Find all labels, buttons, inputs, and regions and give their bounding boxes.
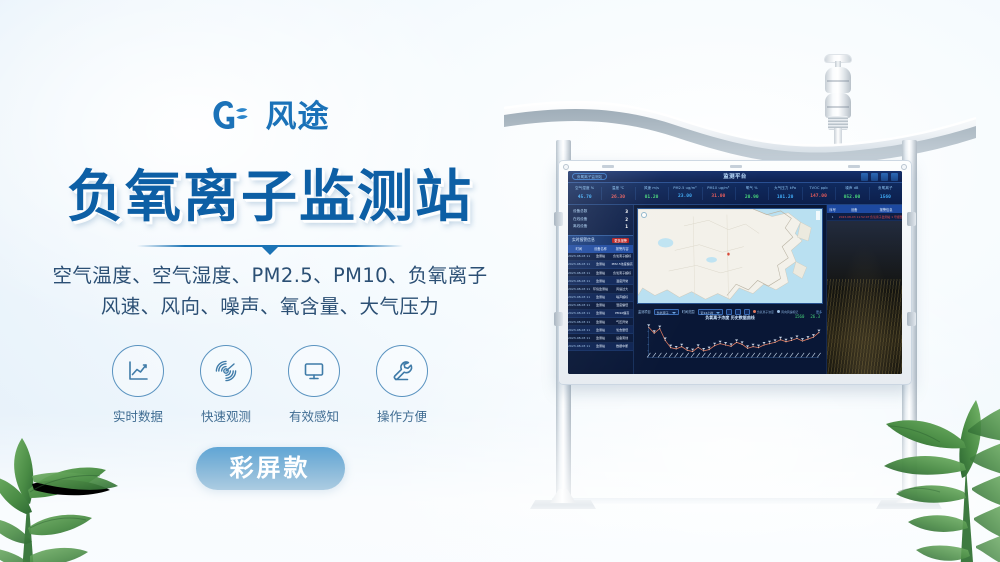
metric-name: 空气湿度 % [568,186,601,191]
metric-card[interactable]: 负氧离子1560 [869,183,902,204]
legend-label: 风向风速标记 [781,310,798,314]
column-header: 报警内容 [611,246,633,251]
dashboard-header: 负氧离子监测站 监测平台 [568,171,902,183]
chart-filter-label-2: 时间范围 [682,309,695,314]
chart-more-link[interactable]: 更多 [816,310,822,314]
table-cell: 气压异常 [611,320,633,324]
china-map[interactable] [637,208,823,304]
table-cell: 2023-08-03 11:44:55 [568,320,590,324]
dashboard-center-column: 监测项目 负氧离子 时间范围 近24小时 负氧离子浓度 [634,205,826,374]
metric-value: 1560 [869,195,902,200]
fengtu-leaf-g-logo-icon [211,100,257,134]
header-icon[interactable] [861,173,868,181]
metric-name: 负氧离子 [869,186,902,191]
metric-card[interactable]: 大气压力 kPa101.20 [768,183,801,204]
brand-name: 风途 [266,100,330,134]
stat-label: 在线设备 [573,217,587,222]
wrench-icon [376,345,428,397]
table-row[interactable]: 2023-08-03 11:47:21监测站噪声超标 [568,294,633,302]
line-chart-icon [112,345,164,397]
cabinet-hinge-right [907,212,916,226]
dashboard-right-column: 序号设备报警信息 12023-08-03 11:52:07负氧离子监测站 1 号… [826,205,902,374]
table-cell: 2023-08-03 11:45:37 [568,311,590,315]
metric-card[interactable]: 噪声 dB052.00 [835,183,868,204]
metric-name: 大气压力 kPa [768,186,801,191]
brand-logo: 风途 [211,96,330,138]
subtitle-line-2: 风速、风向、噪声、氧含量、大气压力 [53,291,488,322]
table-cell: 负氧离子超标 [611,271,633,275]
table-cell: 监测站 [590,279,612,283]
legend-swatch [753,310,756,313]
table-row[interactable]: 2023-08-03 11:52:07监测站负氧离子超标 [568,253,633,261]
legend-label: 负氧离子浓度 [757,310,774,314]
camera-feed[interactable] [827,221,902,374]
alarm-table[interactable]: 时间设备名称报警内容2023-08-03 11:52:07监测站负氧离子超标20… [568,245,633,351]
table-cell: 2023-08-03 11:50:32 [568,271,590,275]
ground-glow [0,412,1000,562]
metric-card[interactable]: PM2.5 ug/m³23.00 [668,183,701,204]
table-cell: 环境监测站 [590,287,612,291]
column-header: 设备名称 [590,246,612,251]
table-cell: 2023-08-03 11:41:03 [568,344,590,348]
sensor-ridge [827,80,849,82]
metric-value: 20.90 [735,195,768,200]
table-cell: PM2.5浓度偏高 [611,262,633,266]
header-icon[interactable] [881,173,888,181]
metric-value: 052.00 [835,195,868,200]
chart-readout: 1560 26.3 [795,314,820,319]
table-cell: 1 [827,215,838,219]
device-stat-row: 在线设备2 [573,217,628,222]
chart-filter-label-1: 监测项目 [638,309,651,314]
dashboard-left-column: 设备总数3在线设备2离线设备1 实时报警信息 更多报警 时间设备名称报警内容20… [568,205,634,374]
metric-name: 温度 ℃ [601,186,634,191]
cabinet-hinge-left [554,312,563,326]
metric-card[interactable]: 温度 ℃26.30 [601,183,634,204]
table-row[interactable]: 2023-08-03 11:51:45监测站PM2.5浓度偏高 [568,261,633,269]
metric-value: 101.20 [768,195,801,200]
chart-legend-item-2: 风向风速标记 [777,310,798,314]
table-cell: 监测站 [590,344,612,348]
metric-name: 氧气 % [735,186,768,191]
table-cell: 监测站 [590,336,612,340]
cabinet-bolt [901,164,907,170]
table-cell: 2023-08-03 11:49:18 [568,279,590,283]
stat-label: 设备总数 [573,209,587,214]
list-item[interactable]: 12023-08-03 11:52:07负氧离子监测站 1 号报警信息提示 [827,213,902,221]
table-cell: 温度异常 [611,279,633,283]
cabinet-bolt [563,164,569,170]
table-cell: 监测站 [590,303,612,307]
table-cell: 设备离线 [611,336,633,340]
hero-stage: 风途 负氧离子监测站 空气温度、空气湿度、PM2.5、PM10、负氧离子 风速、… [0,0,1000,562]
cabinet-tab [848,165,860,168]
table-cell: 负氧离子超标 [611,254,633,258]
divider-caret-icon [261,246,279,255]
table-row[interactable]: 2023-08-03 11:45:37监测站PM10偏高 [568,310,633,318]
title-divider [137,245,403,247]
column-header: 设备 [838,207,870,212]
dashboard-screen[interactable]: 负氧离子监测站 监测平台 空气湿度 %45.70温度 ℃26.30风速 m/s0… [568,171,902,374]
chart-export-button[interactable] [735,309,741,315]
hero-subtitle: 空气温度、空气湿度、PM2.5、PM10、负氧离子 风速、风向、噪声、氧含量、大… [53,260,488,322]
cabinet-hinge-right [907,312,916,326]
metric-strip: 空气湿度 %45.70温度 ℃26.30风速 m/s01.20PM2.5 ug/… [568,183,902,205]
display-cabinet: 负氧离子监测站 监测平台 空气湿度 %45.70温度 ℃26.30风速 m/s0… [558,160,912,385]
table-row[interactable]: 2023-08-03 11:48:02环境监测站风速过大 [568,285,633,293]
table-cell: 监测站 [590,254,612,258]
stat-value: 1 [625,224,628,229]
chart-legend-item-1: 负氧离子浓度 [753,310,774,314]
monitor-icon [288,345,340,397]
table-cell: 氧含量低 [611,328,633,332]
table-cell: 风速过大 [611,287,633,291]
table-cell: 2023-08-03 11:51:45 [568,262,590,266]
camera-grass [827,279,902,374]
table-cell: 2023-08-03 11:43:40 [568,328,590,332]
metric-card[interactable]: 氧气 %20.90 [735,183,768,204]
cabinet-hinge-left [554,212,563,226]
table-cell: 监测站 [590,271,612,275]
table-row[interactable]: 2023-08-03 11:49:18监测站温度异常 [568,277,633,285]
stat-value: 3 [625,209,628,214]
page-title: 负氧离子监测站 [67,152,473,233]
legend-swatch [777,310,780,313]
right-panel-header: 序号设备报警信息 [827,205,902,213]
metric-card[interactable]: TVOC ppb147.00 [802,183,835,204]
chart-refresh-button[interactable] [744,309,750,315]
readout-value-1: 1560 [795,314,805,319]
table-cell: 2023-08-03 11:52:07 [568,254,590,258]
chart-view-button[interactable] [726,309,732,315]
header-icon[interactable] [871,173,878,181]
table-cell: 2023-08-03 11:42:18 [568,336,590,340]
metric-card[interactable]: PM10 ug/m³31.00 [702,183,735,204]
metric-card[interactable]: 空气湿度 %45.70 [568,183,601,204]
device-stat-row: 离线设备1 [573,224,628,229]
metric-name: PM2.5 ug/m³ [668,186,701,190]
table-cell: 监测站 [590,320,612,324]
cabinet-tab [730,165,742,168]
table-row[interactable]: 2023-08-03 11:43:40监测站氧含量低 [568,326,633,334]
header-icon[interactable] [891,173,898,181]
table-cell: 数据中断 [611,344,633,348]
table-row[interactable]: 2023-08-03 11:50:32监测站负氧离子超标 [568,269,633,277]
table-cell: 2023-08-03 11:47:21 [568,295,590,299]
metric-value: 31.00 [702,194,735,199]
metric-value: 147.00 [802,194,835,199]
metric-name: 噪声 dB [835,186,868,191]
table-row[interactable]: 2023-08-03 11:44:55监测站气压异常 [568,318,633,326]
alarm-more-badge[interactable]: 更多报警 [612,238,629,243]
alarm-panel-title: 实时报警信息 [572,237,595,243]
table-cell: 监测站 [590,262,612,266]
stat-value: 2 [625,217,628,222]
map-layer-control[interactable] [816,211,820,220]
table-cell: 监测站 [590,295,612,299]
dashboard-title: 监测平台 [568,172,902,180]
table-cell: 监测站 [590,311,612,315]
table-row[interactable]: 2023-08-03 11:41:03监测站数据中断 [568,343,633,351]
table-row[interactable]: 2023-08-03 11:46:09监测站湿度偏低 [568,302,633,310]
readout-value-2: 26.3 [810,314,820,319]
history-line-chart: 1560 26.3 [638,321,822,372]
device-stats: 设备总数3在线设备2离线设备1 [568,205,633,235]
table-cell: 2023-08-03 11:52:07 [838,215,870,219]
table-cell: 2023-08-03 11:46:09 [568,303,590,307]
table-cell: 噪声超标 [611,295,633,299]
table-cell: 湿度偏低 [611,303,633,307]
cabinet-tab [602,165,614,168]
table-cell: 2023-08-03 11:48:02 [568,287,590,291]
stat-label: 离线设备 [573,224,587,229]
device-stat-row: 设备总数3 [573,209,628,214]
metric-value: 01.20 [635,195,668,200]
dashboard-header-icons[interactable] [861,173,898,181]
metric-value: 45.70 [568,195,601,200]
right-panel-rows[interactable]: 12023-08-03 11:52:07负氧离子监测站 1 号报警信息提示 [827,213,902,221]
subtitle-line-1: 空气温度、空气湿度、PM2.5、PM10、负氧离子 [53,260,488,291]
alarm-table-header: 时间设备名称报警内容 [568,245,633,253]
metric-name: PM10 ug/m³ [702,186,735,190]
chart-filter-select-1[interactable]: 负氧离子 [654,309,679,315]
chart-filter-select-2[interactable]: 近24小时 [698,309,723,315]
metric-name: TVOC ppb [802,186,835,190]
metric-value: 26.30 [601,195,634,200]
metric-name: 风速 m/s [635,186,668,191]
table-row[interactable]: 2023-08-03 11:42:18监测站设备离线 [568,334,633,342]
alarm-panel-header: 实时报警信息 更多报警 [568,235,633,245]
column-header: 时间 [568,246,590,251]
table-cell: PM10偏高 [611,311,633,315]
table-cell: 负氧离子监测站 1 号报警信息提示 [870,215,902,219]
column-header: 序号 [827,207,838,212]
metric-value: 23.00 [668,194,701,199]
map-zoom-control[interactable] [641,212,647,218]
column-header: 报警信息 [870,207,902,212]
table-cell: 监测站 [590,328,612,332]
radar-scan-icon [200,345,252,397]
metric-card[interactable]: 风速 m/s01.20 [635,183,668,204]
